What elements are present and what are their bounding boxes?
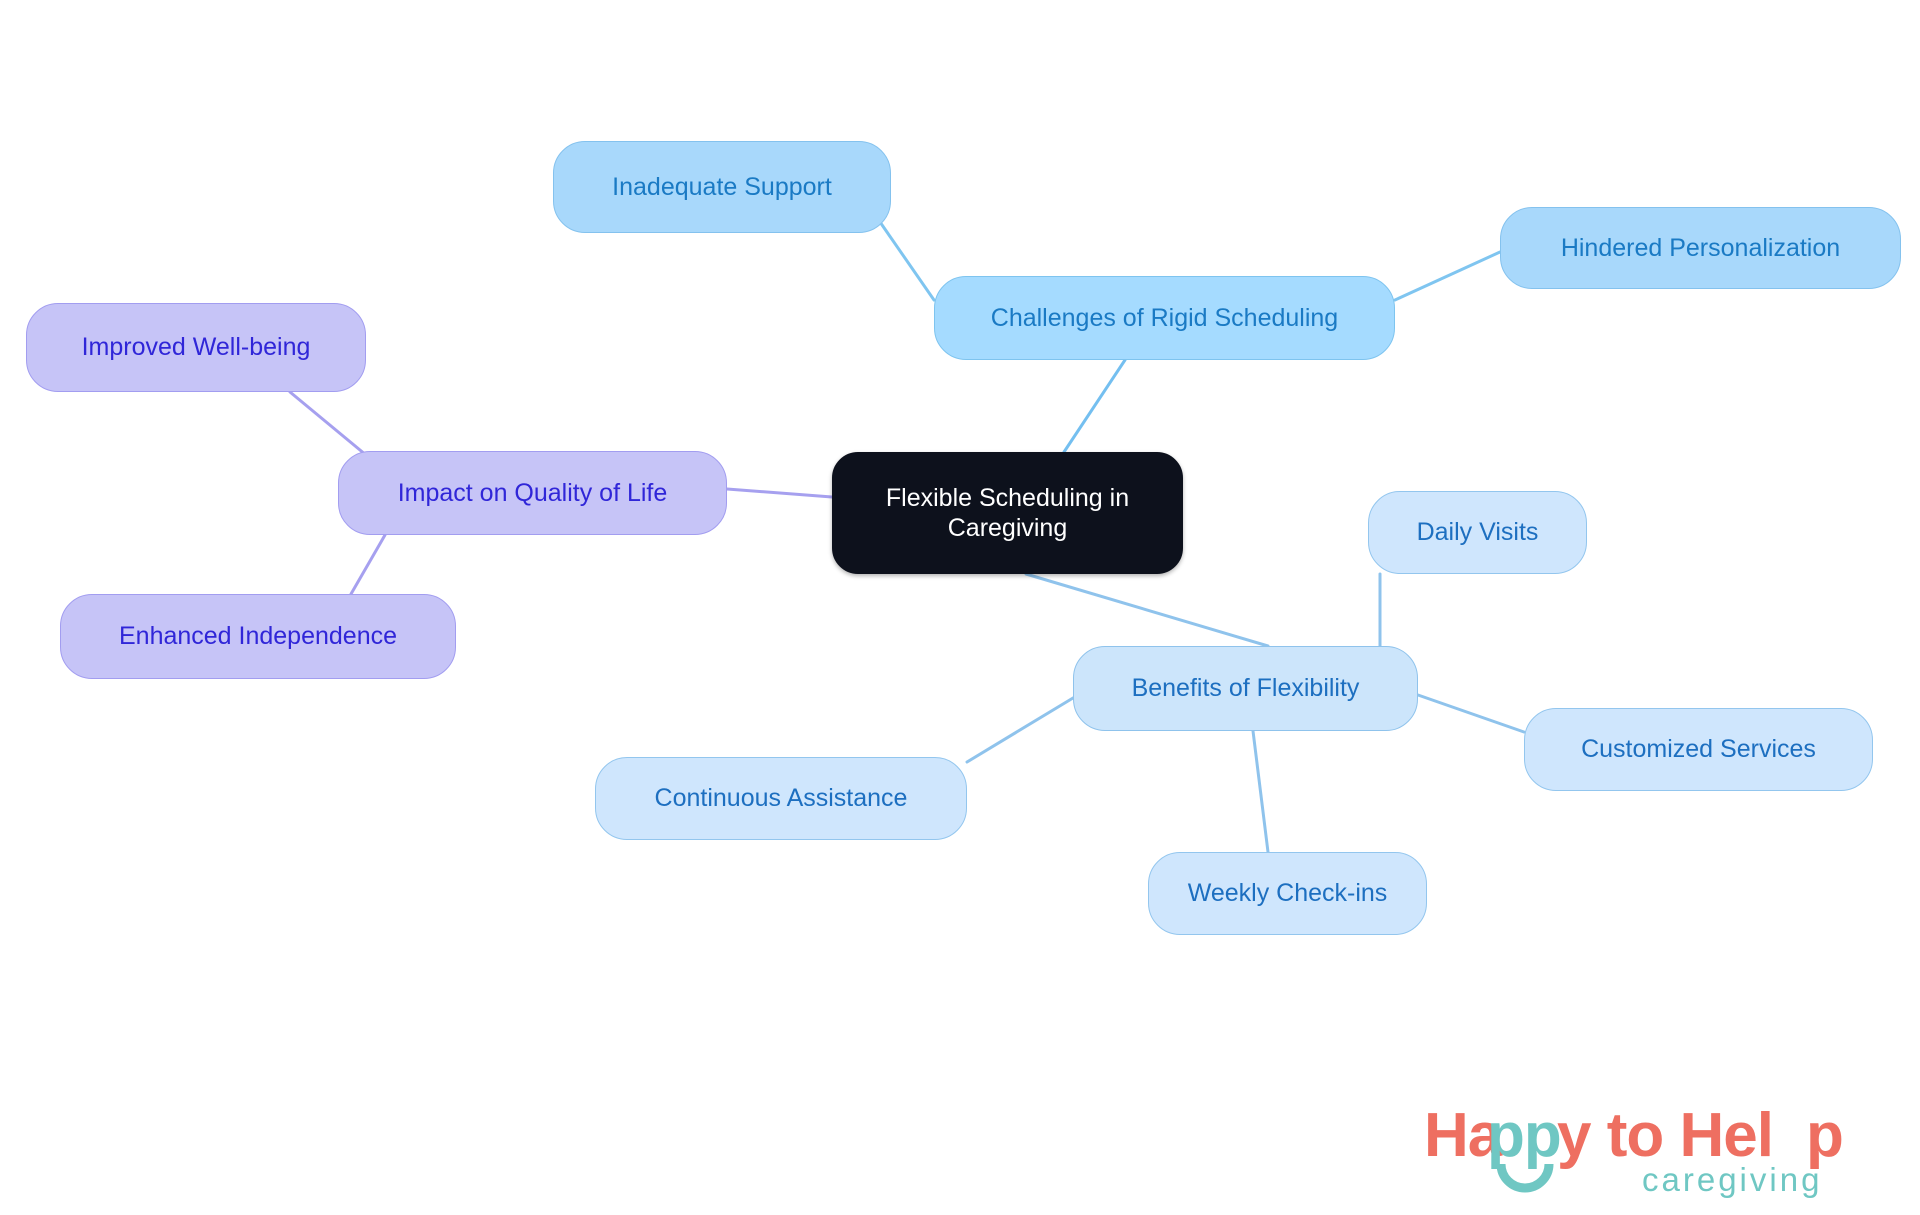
node-continuous-assistance[interactable]: Continuous Assistance <box>595 757 967 840</box>
edge-challenges-hindered-personalization <box>1395 252 1500 300</box>
node-benefits-label: Benefits of Flexibility <box>1132 673 1360 704</box>
edge-benefits-customized-services <box>1418 695 1524 732</box>
node-hindered-personalization[interactable]: Hindered Personalization <box>1500 207 1901 289</box>
node-customized-services[interactable]: Customized Services <box>1524 708 1873 791</box>
node-daily-visits-label: Daily Visits <box>1417 517 1539 548</box>
edge-root-benefits <box>1026 574 1268 646</box>
node-impact-on-quality-of-life[interactable]: Impact on Quality of Life <box>338 451 727 535</box>
edge-benefits-weekly-checkins <box>1253 731 1268 852</box>
node-challenges-of-rigid-scheduling[interactable]: Challenges of Rigid Scheduling <box>934 276 1395 360</box>
brand-logo: Ha pp y to Hel p caregiving <box>1424 1098 1874 1198</box>
node-customized-services-label: Customized Services <box>1581 734 1816 765</box>
mindmap-canvas: Flexible Scheduling in Caregiving Challe… <box>0 0 1920 1215</box>
brand-name-part-4: p <box>1806 1101 1843 1170</box>
edge-impact-enhanced-independence <box>351 535 385 594</box>
node-continuous-assistance-label: Continuous Assistance <box>655 783 908 814</box>
node-weekly-check-ins-label: Weekly Check-ins <box>1188 878 1388 909</box>
edge-challenges-inadequate-support <box>880 222 934 300</box>
node-enhanced-independence[interactable]: Enhanced Independence <box>60 594 456 679</box>
edge-root-challenges <box>1064 360 1125 452</box>
node-root[interactable]: Flexible Scheduling in Caregiving <box>832 452 1183 574</box>
brand-name-part-3: y to Hel <box>1557 1101 1773 1170</box>
node-improved-well-being-label: Improved Well-being <box>82 332 311 363</box>
node-inadequate-support-label: Inadequate Support <box>612 172 832 203</box>
brand-tagline: caregiving <box>1642 1161 1822 1198</box>
node-challenges-label: Challenges of Rigid Scheduling <box>991 303 1338 334</box>
brand-name-part-2: pp <box>1487 1101 1561 1170</box>
node-improved-well-being[interactable]: Improved Well-being <box>26 303 366 392</box>
node-hindered-personalization-label: Hindered Personalization <box>1561 233 1840 264</box>
node-weekly-check-ins[interactable]: Weekly Check-ins <box>1148 852 1427 935</box>
edge-root-impact <box>727 489 832 497</box>
node-benefits-of-flexibility[interactable]: Benefits of Flexibility <box>1073 646 1418 731</box>
edge-benefits-continuous-assistance <box>967 698 1073 762</box>
node-impact-label: Impact on Quality of Life <box>398 478 668 509</box>
node-inadequate-support[interactable]: Inadequate Support <box>553 141 891 233</box>
node-enhanced-independence-label: Enhanced Independence <box>119 621 397 652</box>
node-root-label: Flexible Scheduling in Caregiving <box>886 483 1129 544</box>
node-daily-visits[interactable]: Daily Visits <box>1368 491 1587 574</box>
edge-impact-improved-wellbeing <box>290 392 366 455</box>
